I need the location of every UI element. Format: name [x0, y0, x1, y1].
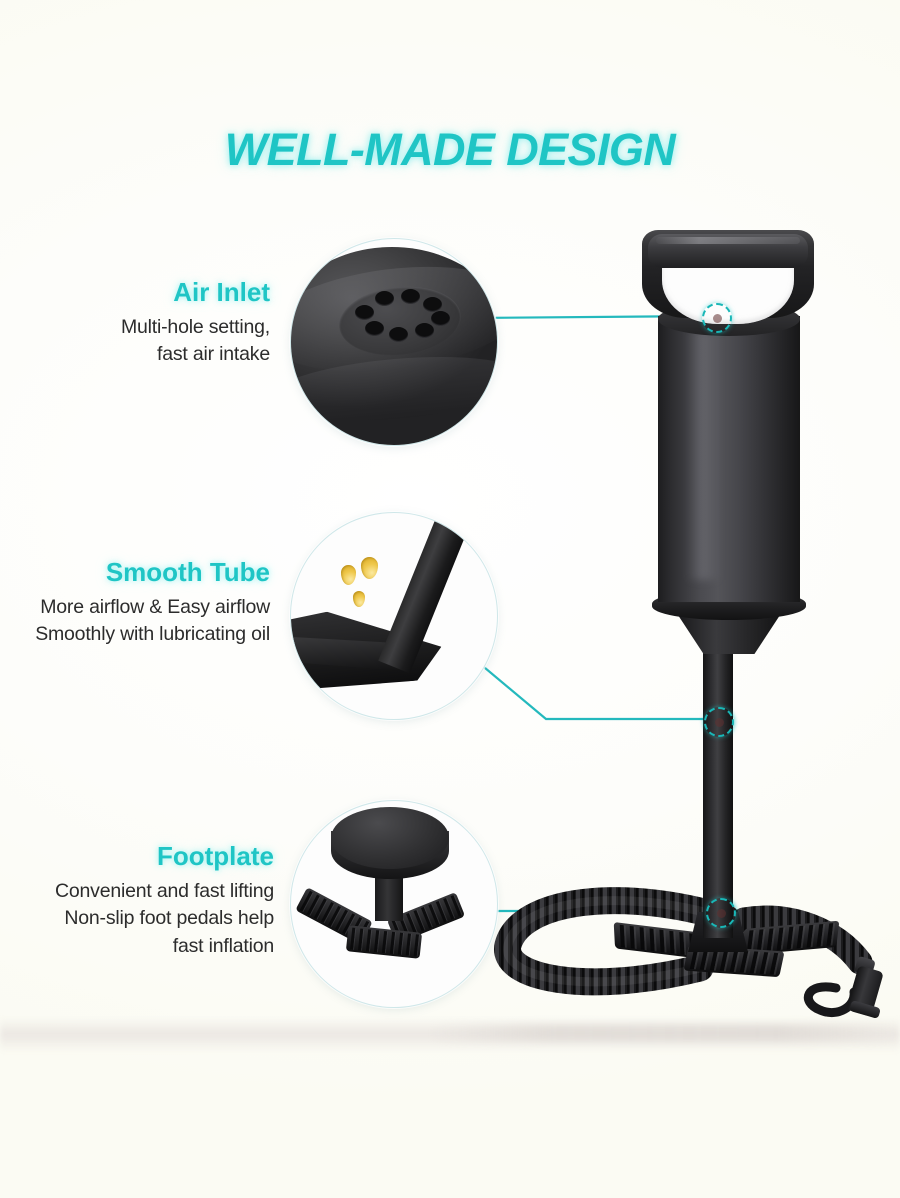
callout-marker-footplate-overlay: [706, 898, 736, 928]
product-infographic: WELL-MADE DESIGN: [0, 0, 900, 1198]
pump-barrel: [658, 316, 800, 602]
pump-shaft: [703, 650, 733, 938]
callout-marker-smooth-tube-overlay: [704, 707, 734, 737]
pump-handle-highlight: [656, 237, 800, 244]
callout-marker-air-inlet-overlay: [702, 303, 732, 333]
barrel-highlight: [686, 330, 720, 580]
product-image-hand-air-pump: [0, 0, 900, 1198]
